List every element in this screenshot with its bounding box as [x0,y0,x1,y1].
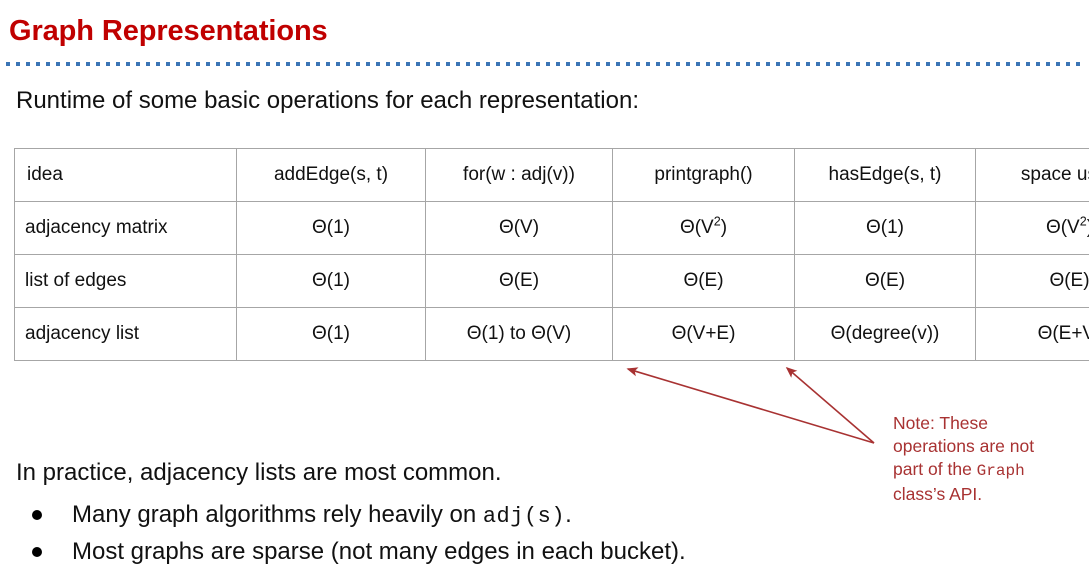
list-item-code: adj(s) [483,504,565,529]
runtime-table: idea addEdge(s, t) for(w : adj(v)) print… [14,148,1089,361]
table-row: list of edges Θ(1) Θ(E) Θ(E) Θ(E) Θ(E) [15,255,1089,308]
cell-for-adj: Θ(E) [426,255,613,308]
list-item-text: Most graphs are sparse (not many edges i… [72,538,686,565]
title-divider [6,62,1084,66]
cell-has-edge: Θ(1) [795,202,976,255]
cell-space-used: Θ(E+V) [976,308,1089,361]
cell-space-used-exponent: 2 [1080,215,1087,229]
page-title: Graph Representations [9,15,328,48]
cell-printgraph-tail: ) [721,217,727,238]
api-note: Note: These operations are not part of t… [893,412,1085,506]
column-header-add-edge: addEdge(s, t) [237,149,426,202]
table-row: adjacency list Θ(1) Θ(1) to Θ(V) Θ(V+E) … [15,308,1089,361]
practice-statement: In practice, adjacency lists are most co… [16,459,502,487]
cell-space-used-base: Θ(V [1046,217,1080,238]
cell-has-edge: Θ(degree(v)) [795,308,976,361]
column-header-space-used: space used [976,149,1089,202]
api-note-line-3: part of the Graph [893,458,1085,483]
api-note-class-name: Graph [977,462,1025,480]
cell-printgraph-exponent: 2 [714,215,721,229]
cell-printgraph: Θ(V+E) [613,308,795,361]
list-item: Most graphs are sparse (not many edges i… [16,533,686,570]
cell-space-used: Θ(V2) [976,202,1089,255]
cell-for-adj: Θ(V) [426,202,613,255]
cell-for-adj: Θ(1) to Θ(V) [426,308,613,361]
cell-add-edge: Θ(1) [237,202,426,255]
arrow-to-hasedge-column [787,368,874,443]
list-item: Many graph algorithms rely heavily on ad… [16,496,686,533]
column-header-for-adj: for(w : adj(v)) [426,149,613,202]
subtitle-text: Runtime of some basic operations for eac… [16,87,639,115]
api-note-line-4: class’s API. [893,483,1085,506]
cell-idea: adjacency list [15,308,237,361]
table-row: adjacency matrix Θ(1) Θ(V) Θ(V2) Θ(1) Θ(… [15,202,1089,255]
column-header-has-edge: hasEdge(s, t) [795,149,976,202]
bullet-dot-icon [32,547,42,557]
api-note-line-3-text: part of the [893,459,977,479]
cell-printgraph-base: Θ(V [680,217,714,238]
cell-add-edge: Θ(1) [237,308,426,361]
column-header-idea: idea [15,149,237,202]
cell-printgraph: Θ(V2) [613,202,795,255]
cell-add-edge: Θ(1) [237,255,426,308]
table-header-row: idea addEdge(s, t) for(w : adj(v)) print… [15,149,1089,202]
cell-has-edge: Θ(E) [795,255,976,308]
api-note-line-2: operations are not [893,435,1085,458]
api-note-line-1: Note: These [893,412,1085,435]
cell-printgraph: Θ(E) [613,255,795,308]
list-item-text: Many graph algorithms rely heavily on [72,501,483,528]
list-item-text-tail: . [565,501,572,528]
column-header-printgraph: printgraph() [613,149,795,202]
cell-idea: list of edges [15,255,237,308]
cell-space-used: Θ(E) [976,255,1089,308]
bullet-dot-icon [32,510,42,520]
bullet-list: Many graph algorithms rely heavily on ad… [16,496,686,570]
arrow-to-printgraph-column [628,369,874,443]
cell-idea: adjacency matrix [15,202,237,255]
